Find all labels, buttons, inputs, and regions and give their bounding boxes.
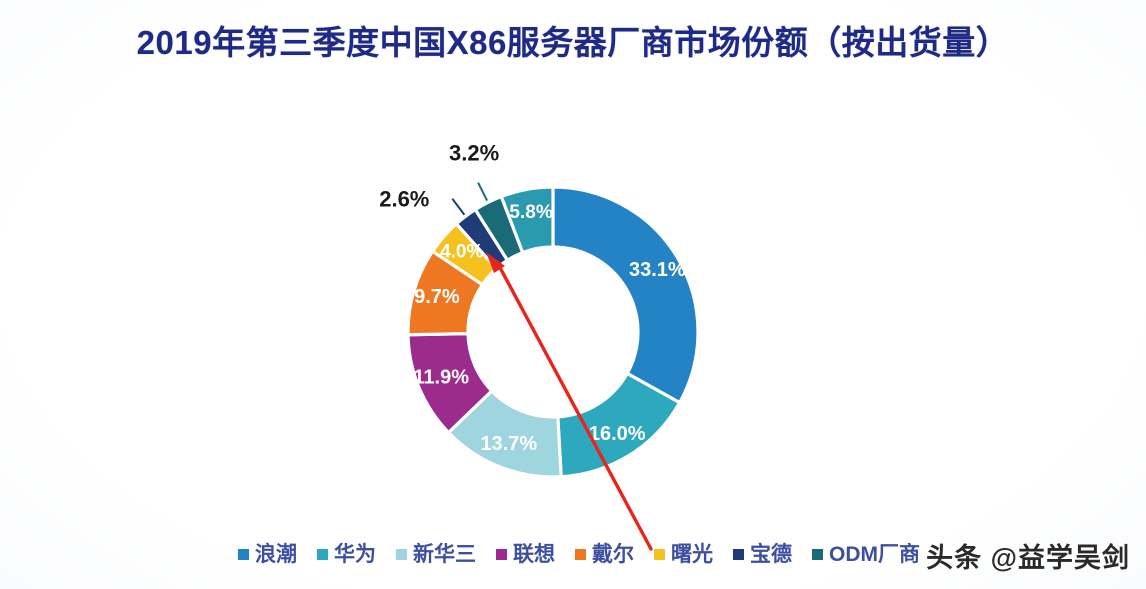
legend-label: 曙光 bbox=[671, 544, 713, 565]
donut-hole bbox=[468, 247, 638, 417]
chart-canvas: 2019年第三季度中国X86服务器厂商市场份额（按出货量） 33.1%16.0%… bbox=[0, 0, 1146, 589]
leader-line-6 bbox=[452, 199, 464, 215]
legend-item-3[interactable]: 联想 bbox=[496, 544, 555, 565]
slice-label-1: 16.0% bbox=[589, 423, 646, 445]
legend-label: 华为 bbox=[334, 544, 376, 565]
legend-swatch-icon bbox=[654, 549, 665, 560]
legend-swatch-icon bbox=[812, 549, 823, 560]
slice-label-8: 5.8% bbox=[509, 202, 552, 223]
legend-label: 浪潮 bbox=[255, 544, 297, 565]
slice-outer-label-7: 3.2% bbox=[449, 141, 499, 166]
legend-swatch-icon bbox=[317, 549, 328, 560]
legend-swatch-icon bbox=[575, 549, 586, 560]
legend-label: 宝德 bbox=[750, 544, 792, 565]
legend-item-1[interactable]: 华为 bbox=[317, 544, 376, 565]
watermark: 头条 @益学吴剑 bbox=[926, 536, 1130, 575]
slice-label-2: 13.7% bbox=[480, 433, 537, 455]
slice-label-5: 4.0% bbox=[440, 242, 483, 263]
legend-swatch-icon bbox=[396, 549, 407, 560]
legend-swatch-icon bbox=[238, 549, 249, 560]
slice-outer-label-6: 2.6% bbox=[379, 187, 429, 212]
donut-svg: 33.1%16.0%13.7%11.9%9.7%4.0%2.6%3.2%5.8% bbox=[0, 0, 1146, 589]
legend-label: 联想 bbox=[513, 544, 555, 565]
leader-line-7 bbox=[478, 183, 487, 201]
legend-item-0[interactable]: 浪潮 bbox=[238, 544, 297, 565]
legend-item-6[interactable]: 宝德 bbox=[733, 544, 792, 565]
legend-swatch-icon bbox=[496, 549, 507, 560]
legend-swatch-icon bbox=[733, 549, 744, 560]
legend-label: 新华三 bbox=[413, 544, 476, 565]
donut-chart: 33.1%16.0%13.7%11.9%9.7%4.0%2.6%3.2%5.8% bbox=[0, 0, 1146, 589]
legend-label: ODM厂商 bbox=[829, 544, 920, 565]
legend-item-5[interactable]: 曙光 bbox=[654, 544, 713, 565]
legend-label: 戴尔 bbox=[592, 544, 634, 565]
legend-item-7[interactable]: ODM厂商 bbox=[812, 544, 920, 565]
legend-item-2[interactable]: 新华三 bbox=[396, 544, 476, 565]
slice-label-0: 33.1% bbox=[629, 259, 686, 281]
legend-item-4[interactable]: 戴尔 bbox=[575, 544, 634, 565]
slice-label-3: 11.9% bbox=[413, 367, 469, 389]
slice-label-4: 9.7% bbox=[414, 286, 460, 308]
